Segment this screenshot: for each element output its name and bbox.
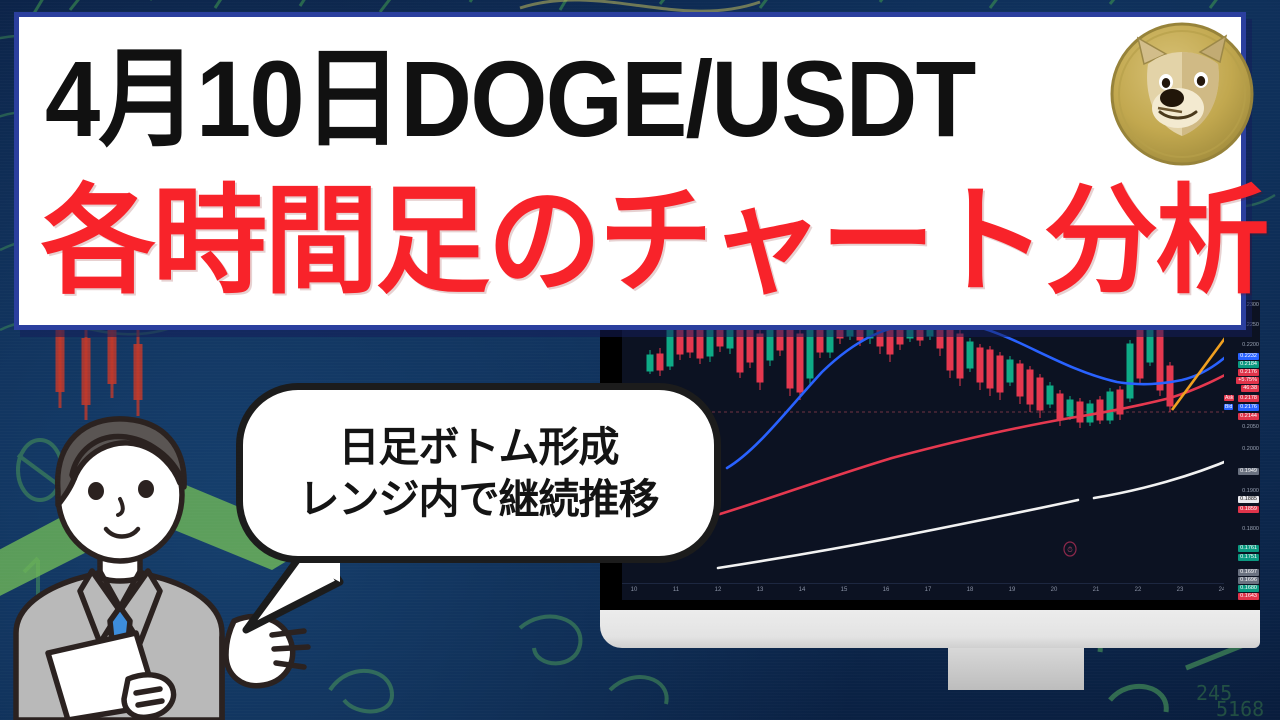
x-tick: 13: [757, 587, 764, 593]
price-tag-high: 0.2184: [1238, 361, 1259, 368]
thumbnail-root: 245 5168: [0, 0, 1280, 720]
price-tag-level-g: 0.1680: [1238, 585, 1259, 592]
x-tick: 17: [925, 587, 932, 593]
svg-text:⏱: ⏱: [1067, 546, 1073, 554]
dogecoin-coin-icon: [1108, 20, 1256, 168]
title-card: 4月10日DOGE/USDT 各時間足のチャート分析: [14, 12, 1246, 330]
x-tick: 15: [841, 587, 848, 593]
x-tick: 12: [715, 587, 722, 593]
y-tick: 0.1800: [1242, 526, 1259, 533]
x-tick: 18: [967, 587, 974, 593]
x-tick: 19: [1009, 587, 1016, 593]
monitor-stand: [948, 648, 1084, 690]
speech-bubble: 日足ボトム形成 レンジ内で継続推移: [236, 383, 721, 563]
y-tick: 0.2050: [1242, 424, 1259, 431]
x-tick: 20: [1051, 587, 1058, 593]
price-tag-level-b: 0.1859: [1238, 506, 1259, 513]
speech-bubble-line1: 日足ボトム形成: [339, 422, 619, 472]
x-tick: 22: [1135, 587, 1142, 593]
y-tick: 0.1900: [1242, 488, 1259, 495]
price-tag-countdown: 46:38: [1241, 385, 1259, 392]
y-tick: 0.2200: [1242, 342, 1259, 349]
x-tick: 10: [631, 587, 638, 593]
x-tick: 11: [673, 587, 679, 593]
bid-label: Bid: [1224, 404, 1233, 410]
price-tag-level-f: 0.1696: [1238, 577, 1259, 584]
price-tag-ask: 0.2178: [1238, 395, 1259, 402]
monitor-bezel: [600, 610, 1260, 648]
price-tag-level-c: 0.1761: [1238, 545, 1259, 552]
price-tag-alert: 0.1949: [1238, 468, 1259, 475]
chart-time-axis: 10 11 12 13 14 15 16 17 18 19 20 21 22 2…: [622, 583, 1260, 600]
price-tag-level-h: 0.1643: [1238, 593, 1259, 600]
x-tick: 16: [883, 587, 890, 593]
x-tick: 23: [1177, 587, 1184, 593]
price-tag-change: +5.75%: [1236, 377, 1259, 384]
price-tag-level-d: 0.1751: [1238, 554, 1259, 561]
x-tick: 14: [799, 587, 806, 593]
ask-label: Ask: [1224, 395, 1234, 401]
subtitle: 各時間足のチャート分析: [41, 167, 1200, 317]
page-title: 4月10日DOGE/USDT: [45, 39, 1002, 159]
chart-price-scale[interactable]: 0.2300 0.2250 0.2200 0.2232 0.2184 0.217…: [1224, 300, 1260, 600]
price-tag-level-e: 0.1697: [1238, 569, 1259, 576]
x-tick: 21: [1093, 587, 1100, 593]
price-tag-last: 0.2232: [1238, 353, 1259, 360]
price-tag-low: 0.2144: [1238, 413, 1259, 420]
price-tag-close: 0.2176: [1238, 369, 1259, 376]
speech-bubble-line2: レンジ内で継続推移: [299, 474, 659, 524]
y-tick: 0.2000: [1242, 446, 1259, 453]
price-tag-bid: 0.2176: [1238, 404, 1259, 411]
price-tag-level-a: 0.1885: [1238, 496, 1259, 503]
